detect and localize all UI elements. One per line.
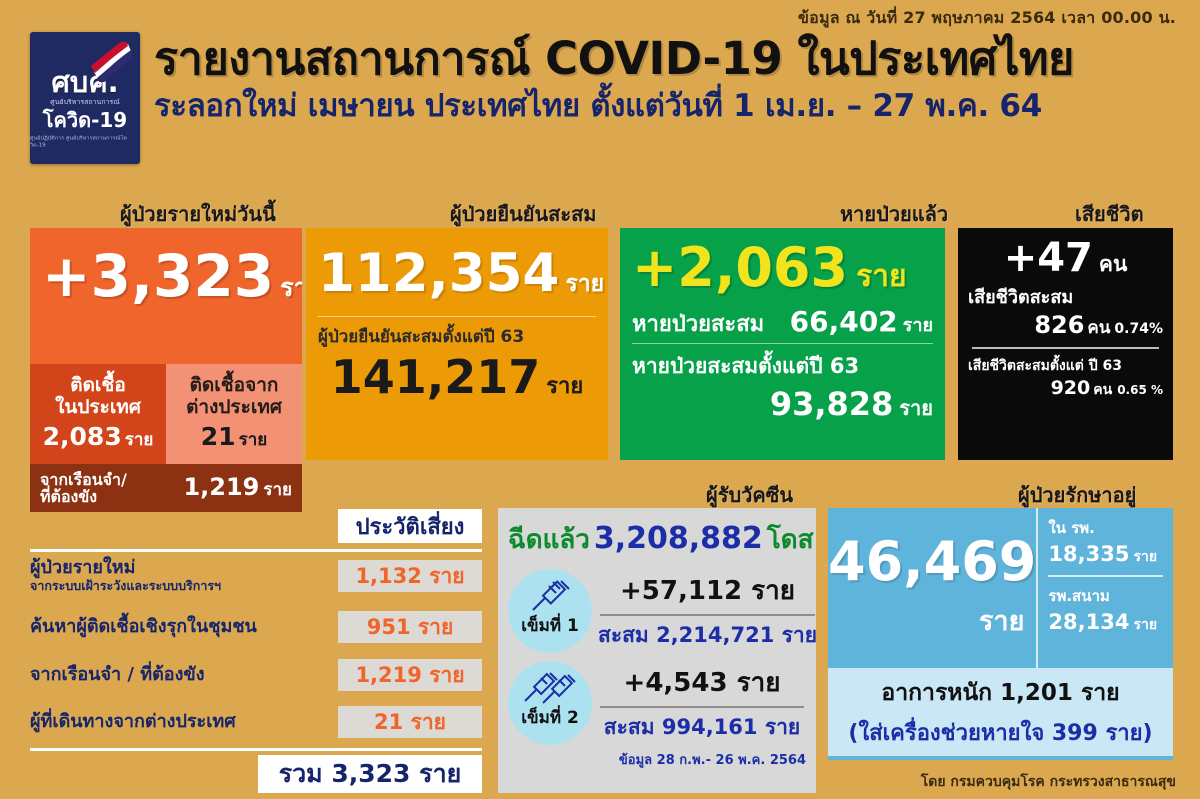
vaccine-caption: ผู้รับวัคซีน <box>706 479 793 511</box>
header: ศบค. ศูนย์บริหารสถานการณ์ โควิด-19 ศูนย์… <box>30 32 1074 164</box>
cumulative-value: 112,354 <box>318 243 559 304</box>
deaths-since63-label: เสียชีวิตสะสมตั้งแต่ ปี 63 <box>968 355 1163 377</box>
recovered-since63-unit: ราย <box>899 396 933 420</box>
vaccine-injected-value: 3,208,882 <box>594 521 763 556</box>
cumulative-unit: ราย <box>565 271 604 297</box>
treatment-severe-block: อาการหนัก 1,201 ราย (ใส่เครื่องช่วยหายใจ… <box>828 668 1173 756</box>
new-cases-card: +3,323ราย <box>30 228 302 364</box>
risk-divider-top <box>30 549 482 552</box>
dose1-new-value: +57,112 ราย <box>598 570 816 611</box>
deaths-card: +47คน เสียชีวิตสะสม 826คน0.74% เสียชีวิต… <box>958 228 1173 460</box>
cumulative-since63-value: 141,217 <box>331 350 541 404</box>
risk-label-3: ผู้ที่เดินทางจากต่างประเทศ <box>30 711 236 732</box>
treatment-hospital-label: ใน รพ. <box>1048 516 1163 540</box>
deaths-cum-percent: 0.74% <box>1114 321 1163 337</box>
deaths-caption: เสียชีวิต <box>1075 198 1144 230</box>
recovered-cum-unit: ราย <box>903 315 933 336</box>
risk-value-1: 951 ราย <box>338 611 482 643</box>
risk-sublabel-0: จากระบบเฝ้าระวังและระบบบริการฯ <box>30 579 221 592</box>
risk-divider-bottom <box>30 748 482 751</box>
cumulative-since63-label: ผู้ป่วยยืนยันสะสมตั้งแต่ปี 63 <box>318 323 596 350</box>
syringe-icon <box>525 577 575 617</box>
treatment-field-value: 28,134 <box>1048 610 1129 634</box>
domestic-cases-cell: ติดเชื้อ ในประเทศ 2,083ราย <box>30 364 166 464</box>
cumulative-since63-unit: ราย <box>546 374 583 399</box>
risk-history-heading: ประวัติเสี่ยง <box>338 509 482 543</box>
vaccine-dose2-row: เข็มที่ 2 +4,543 ราย สะสม 994,161 ราย <box>508 661 806 745</box>
recovered-cum-value: 66,402 <box>790 305 898 338</box>
treatment-main-value-block: 46,469 ราย <box>828 508 1036 668</box>
risk-row-surveillance: ผู้ป่วยรายใหม่ จากระบบเฝ้าระวังและระบบบร… <box>30 556 482 596</box>
data-timestamp: ข้อมูล ณ วันที่ 27 พฤษภาคม 2564 เวลา 00.… <box>0 6 1176 31</box>
sbc-logo: ศบค. ศูนย์บริหารสถานการณ์ โควิด-19 ศูนย์… <box>30 32 140 164</box>
dose2-badge: เข็มที่ 2 <box>508 661 592 745</box>
logo-covid-text: โควิด-19 <box>43 110 127 130</box>
treatment-ventilator-line: (ใส่เครื่องช่วยหายใจ 399 ราย) <box>848 715 1152 750</box>
credit-line: โดย กรมควบคุมโรค กระทรวงสาธารณสุข <box>921 771 1176 793</box>
risk-value-2: 1,219 ราย <box>338 659 482 691</box>
prison-unit: ราย <box>263 480 292 500</box>
vaccine-dose1-row: เข็มที่ 1 +57,112 ราย สะสม 2,214,721 ราย <box>508 569 806 653</box>
thai-flag-ribbon-icon <box>90 42 132 82</box>
page-title: รายงานสถานการณ์ COVID-19 ในประเทศไทย <box>154 36 1074 82</box>
recovered-since63-value: 93,828 <box>770 385 893 423</box>
risk-row-prison: จากเรือนจำ / ที่ต้องขัง 1,219 ราย <box>30 655 482 695</box>
risk-label-1: ค้นหาผู้ติดเชื้อเชิงรุกในชุมชน <box>30 616 257 637</box>
deaths-unit: คน <box>1099 252 1127 276</box>
new-cases-breakdown: ติดเชื้อ ในประเทศ 2,083ราย ติดเชื้อจาก ต… <box>30 364 302 464</box>
foreign-label-line1: ติดเชื้อจาก <box>190 374 279 396</box>
domestic-label-line2: ในประเทศ <box>55 396 141 418</box>
page-subtitle: ระลอกใหม่ เมษายน ประเทศไทย ตั้งแต่วันที่… <box>154 90 1074 123</box>
risk-total: รวม 3,323 ราย <box>258 755 482 793</box>
divider <box>600 706 804 708</box>
risk-value-0: 1,132 ราย <box>338 560 482 592</box>
treatment-field-unit: ราย <box>1133 617 1157 633</box>
foreign-label-line2: ต่างประเทศ <box>186 396 282 418</box>
treatment-caption: ผู้ป่วยรักษาอยู่ <box>1018 479 1136 511</box>
dose2-cum-value: สะสม 994,161 ราย <box>598 711 806 744</box>
foreign-cases-cell: ติดเชื้อจาก ต่างประเทศ 21ราย <box>166 364 302 464</box>
new-cases-caption: ผู้ป่วยรายใหม่วันนี้ <box>120 198 276 230</box>
deaths-since63-percent: 0.65 % <box>1117 383 1163 397</box>
foreign-unit: ราย <box>239 430 268 450</box>
cumulative-caption: ผู้ป่วยยืนยันสะสม <box>450 198 596 230</box>
infographic-root: ข้อมูล ณ วันที่ 27 พฤษภาคม 2564 เวลา 00.… <box>0 0 1200 799</box>
treatment-field-label: รพ.สนาม <box>1048 584 1163 608</box>
domestic-unit: ราย <box>125 430 154 450</box>
deaths-value: +47 <box>1004 235 1093 281</box>
recovered-unit: ราย <box>856 259 907 294</box>
deaths-cum-label: เสียชีวิตสะสม <box>968 282 1163 311</box>
cumulative-card: 112,354ราย ผู้ป่วยยืนยันสะสมตั้งแต่ปี 63… <box>306 228 608 460</box>
divider <box>632 343 933 344</box>
divider <box>318 316 596 317</box>
logo-subtitle: ศูนย์บริหารสถานการณ์ <box>50 100 120 107</box>
deaths-cum-unit: คน <box>1087 318 1110 338</box>
deaths-since63-unit: คน <box>1093 382 1112 398</box>
prison-cases-card: จากเรือนจำ/ ที่ต้องขัง 1,219ราย <box>30 464 302 512</box>
vaccine-note: ข้อมูล 28 ก.พ.- 26 พ.ค. 2564 <box>508 749 806 770</box>
divider <box>972 347 1159 349</box>
foreign-value: 21 <box>201 422 236 451</box>
vaccine-injected-unit: โดส <box>767 525 814 555</box>
dose2-new-value: +4,543 ราย <box>598 662 806 703</box>
dose1-badge: เข็มที่ 1 <box>508 569 592 653</box>
vaccine-card: ฉีดแล้ว3,208,882โดส เข็มที่ 1 +57,112 รา… <box>498 508 816 793</box>
risk-value-3: 21 ราย <box>338 706 482 738</box>
prison-label-line2: ที่ต้องขัง <box>40 487 97 506</box>
treatment-hospital-unit: ราย <box>1133 549 1157 565</box>
logo-footnote: ศูนย์ปฏิบัติการ ศูนย์บริหารสถานการณ์โควิ… <box>30 135 140 149</box>
treatment-card: 46,469 ราย ใน รพ. 18,335ราย รพ.สนาม 28,1… <box>828 508 1173 760</box>
domestic-label-line1: ติดเชื้อ <box>70 374 125 396</box>
treatment-hospital-value: 18,335 <box>1048 542 1129 566</box>
new-cases-value: +3,323 <box>42 242 274 310</box>
treatment-value: 46,469 <box>828 535 1036 589</box>
dose1-cum-value: สะสม 2,214,721 ราย <box>598 619 816 652</box>
vaccine-injected-label: ฉีดแล้ว <box>508 525 590 555</box>
deaths-since63-value: 920 <box>1051 377 1091 399</box>
recovered-cum-label: หายป่วยสะสม <box>632 306 764 341</box>
divider <box>600 614 815 616</box>
risk-row-active-case-finding: ค้นหาผู้ติดเชื้อเชิงรุกในชุมชน 951 ราย <box>30 607 482 647</box>
risk-label-0: ผู้ป่วยรายใหม่ <box>30 557 135 578</box>
new-cases-unit: ราย <box>280 273 302 302</box>
recovered-caption: หายป่วยแล้ว <box>840 198 948 230</box>
prison-label-line1: จากเรือนจำ/ <box>40 470 127 489</box>
double-syringe-icon <box>521 669 579 709</box>
recovered-value: +2,063 <box>632 236 848 299</box>
treatment-unit: ราย <box>979 599 1024 642</box>
recovered-card: +2,063ราย หายป่วยสะสม 66,402ราย หายป่วยส… <box>620 228 945 460</box>
deaths-cum-value: 826 <box>1034 311 1084 339</box>
risk-row-overseas: ผู้ที่เดินทางจากต่างประเทศ 21 ราย <box>30 702 482 742</box>
recovered-since63-label: หายป่วยสะสมตั้งแต่ปี 63 <box>632 350 933 383</box>
divider <box>1048 575 1163 577</box>
prison-value: 1,219 <box>183 473 259 501</box>
title-block: รายงานสถานการณ์ COVID-19 ในประเทศไทย ระล… <box>154 32 1074 122</box>
risk-label-2: จากเรือนจำ / ที่ต้องขัง <box>30 664 205 685</box>
treatment-severe-line: อาการหนัก 1,201 ราย <box>881 675 1119 711</box>
domestic-value: 2,083 <box>43 422 122 451</box>
new-cases-value-row: +3,323ราย <box>30 228 302 336</box>
